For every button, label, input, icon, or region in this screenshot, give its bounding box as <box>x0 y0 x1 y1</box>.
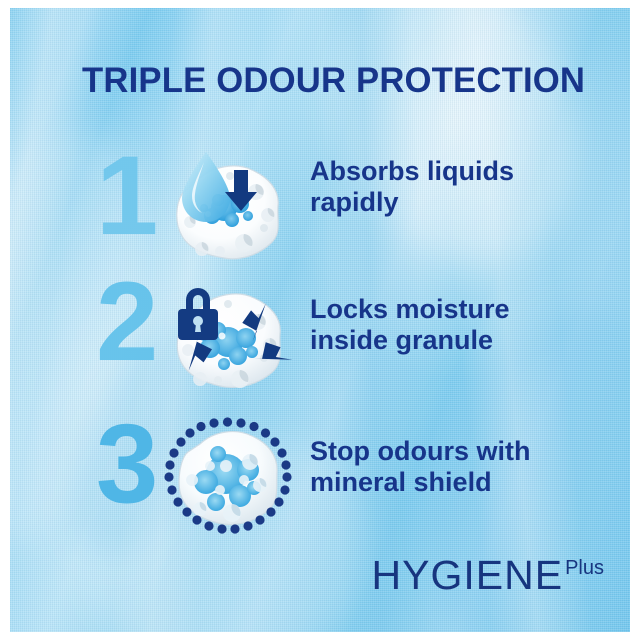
step-2-copy: Locks moisture inside granule <box>310 294 610 356</box>
promo-image: TRIPLE ODOUR PROTECTION 1 <box>0 0 640 640</box>
step-3-copy: Stop odours with mineral shield <box>310 436 610 498</box>
brand-name: HYGIENE <box>372 555 564 596</box>
brand-suffix: Plus <box>565 558 604 578</box>
step-3-artwork <box>160 414 295 540</box>
step-3-line-2: mineral shield <box>310 467 610 498</box>
step-row-3: 3 <box>0 414 640 540</box>
step-row-1: 1 <box>0 146 640 272</box>
step-1-artwork <box>160 146 295 272</box>
step-2-artwork <box>160 272 295 398</box>
page-title: TRIPLE ODOUR PROTECTION <box>82 62 585 100</box>
step-1-copy: Absorbs liquids rapidly <box>310 156 610 218</box>
step-1-line-1: Absorbs liquids <box>310 156 610 187</box>
step-2-line-1: Locks moisture <box>310 294 610 325</box>
step-2-line-2: inside granule <box>310 325 610 356</box>
step-3-line-1: Stop odours with <box>310 436 610 467</box>
padlock-icon <box>178 288 218 340</box>
brand-logo: HYGIENE Plus <box>372 555 604 596</box>
granule-icon <box>179 432 277 525</box>
step-row-2: 2 <box>0 272 640 398</box>
water-drop-icon <box>182 152 230 222</box>
step-1-line-2: rapidly <box>310 187 610 218</box>
